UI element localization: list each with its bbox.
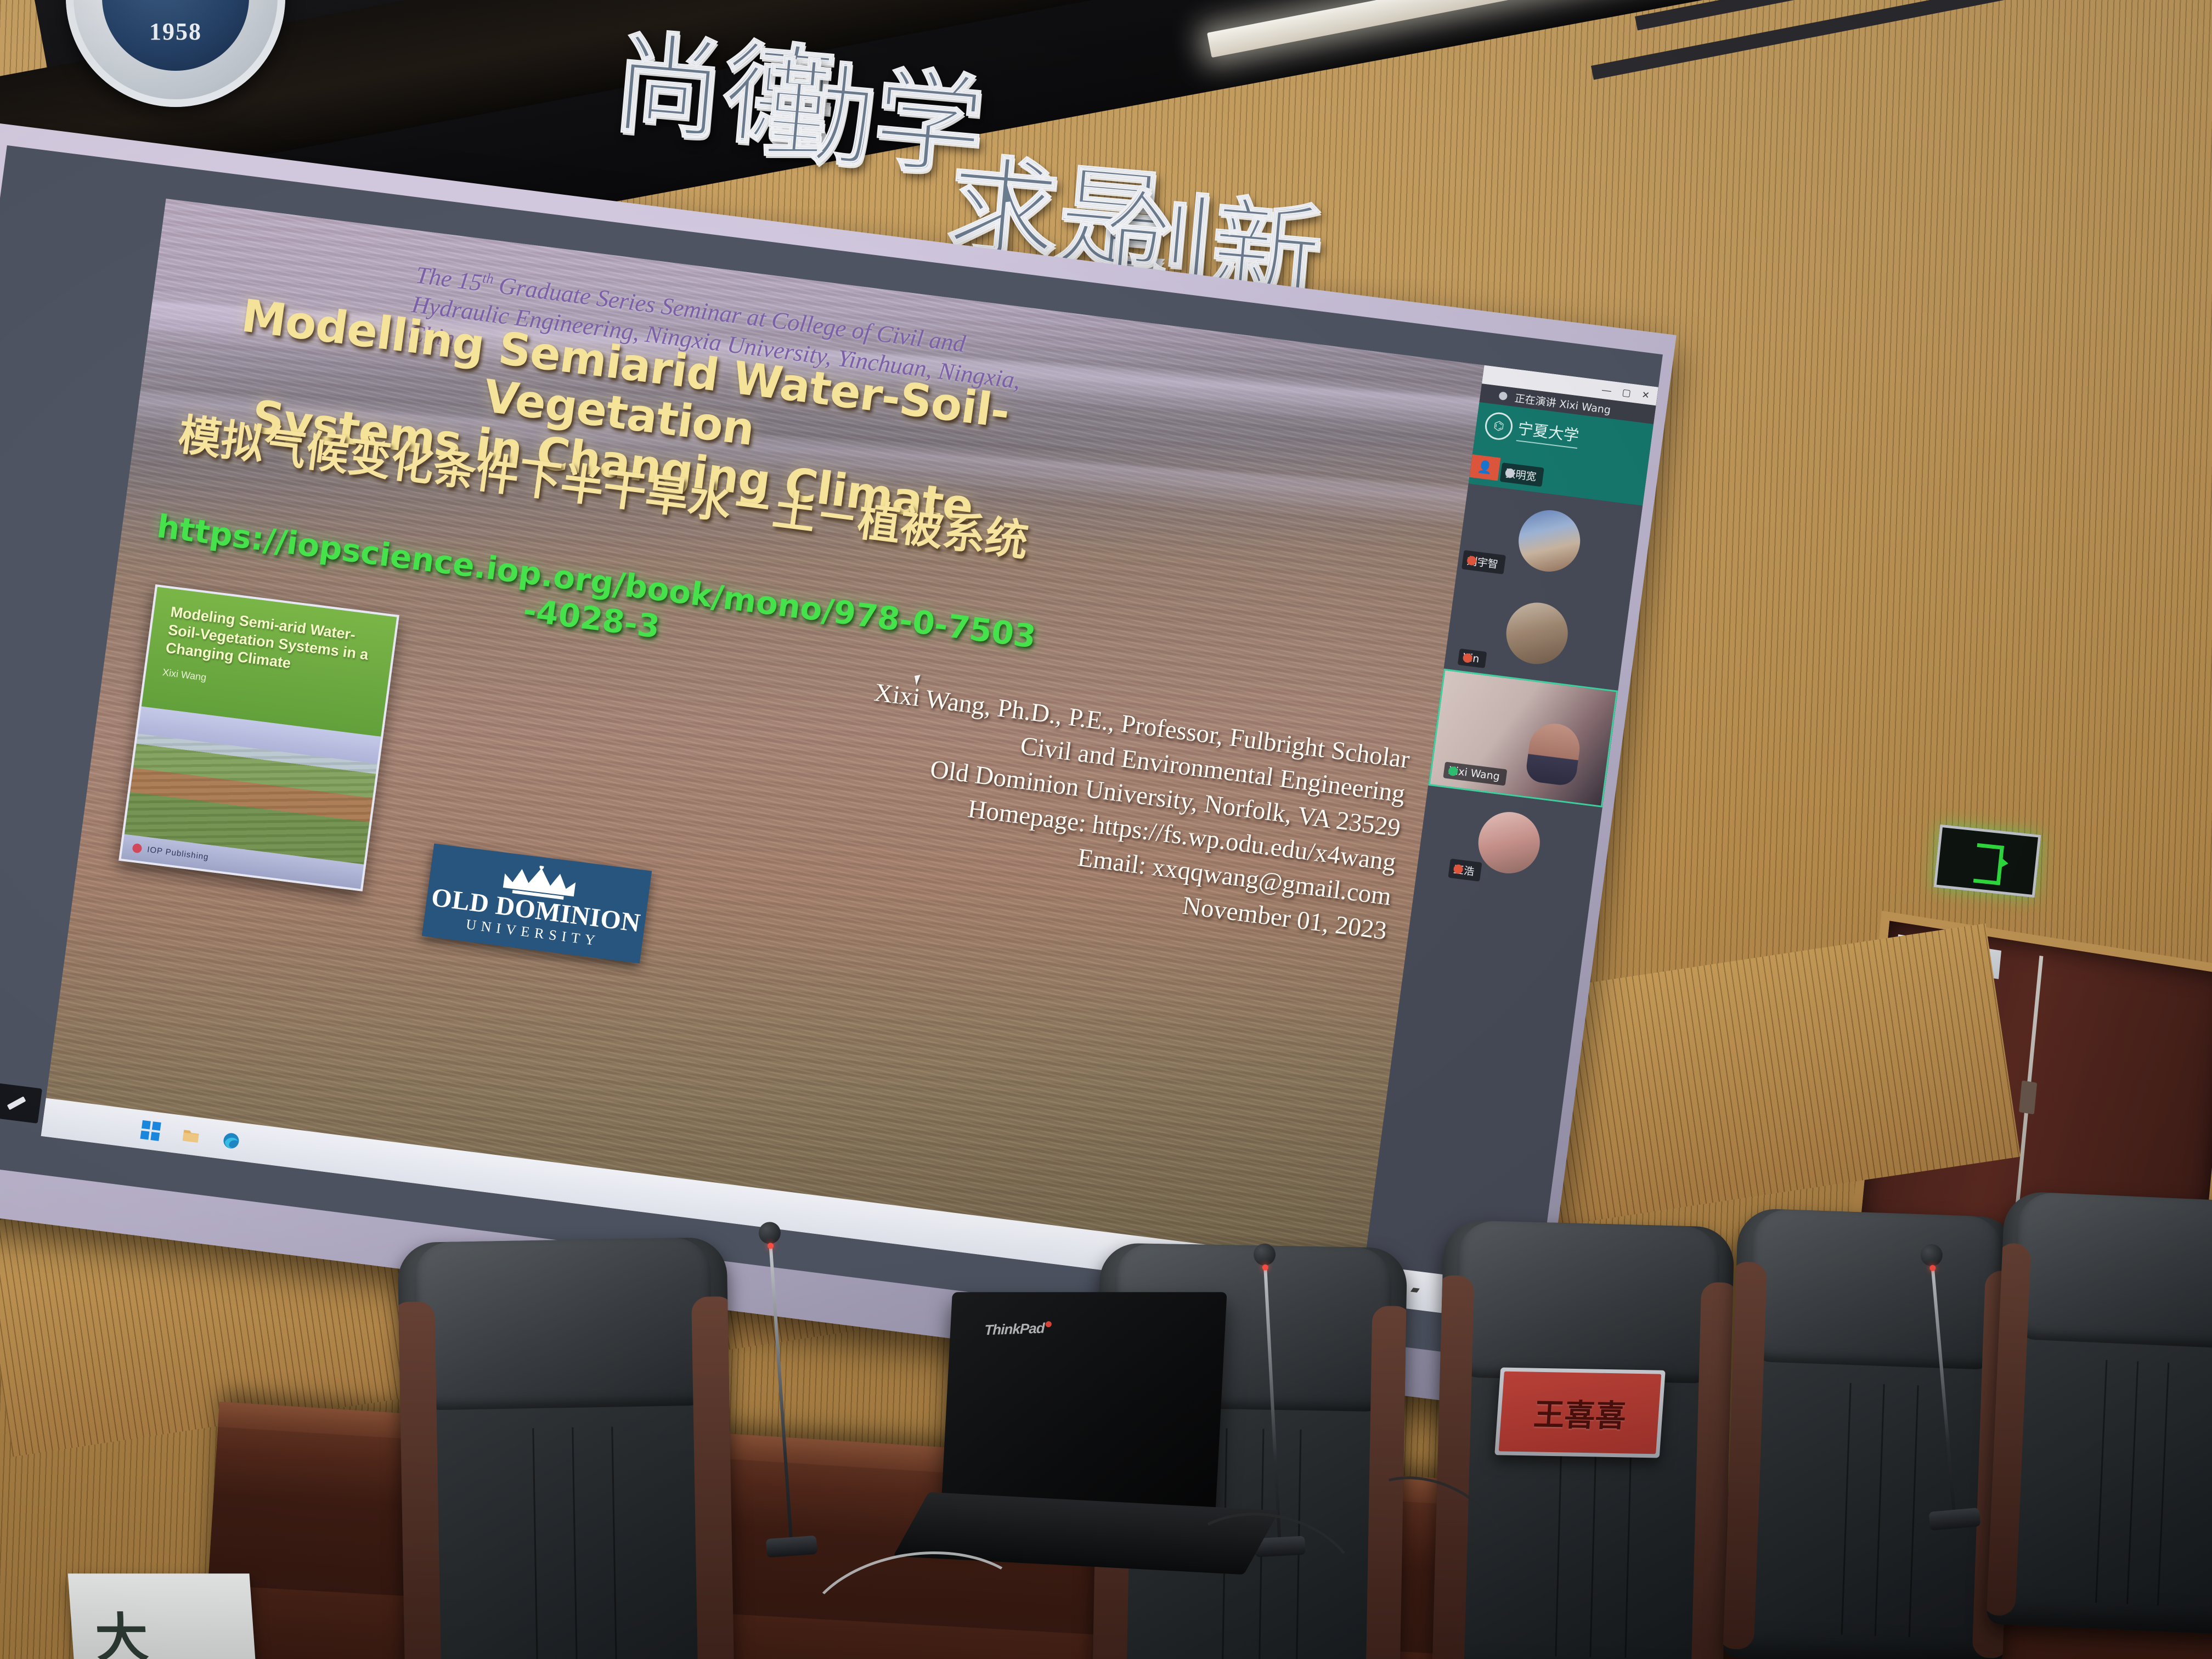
avatar <box>1503 599 1572 668</box>
lecture-hall-photo: 1958 NINGXIA UNIVERSITY 尚德 勤学 求是 创新 <box>0 0 2212 1659</box>
chair[interactable] <box>1986 1191 2212 1635</box>
podium-card-glyph: 大 <box>93 1595 151 1659</box>
speaker-video-feed <box>1525 721 1583 787</box>
ningxia-university-emblem: 1958 NINGXIA UNIVERSITY <box>66 0 285 107</box>
annotate-pencil-icon[interactable] <box>7 1096 26 1110</box>
thinkpad-laptop[interactable]: ThinkPad <box>940 1292 1227 1527</box>
presenter-icon <box>1498 391 1508 400</box>
windows-start-icon[interactable] <box>140 1120 161 1141</box>
raise-hand-badge[interactable]: 👤 <box>1469 454 1500 481</box>
chair[interactable] <box>1723 1208 2018 1659</box>
screen-share-banner[interactable]: g的屏幕共享 <box>0 1069 42 1124</box>
emblem-ring-text: NINGXIA UNIVERSITY <box>66 0 285 107</box>
exit-sign <box>1933 825 2041 898</box>
tencent-meeting-watermark: 腾讯会议 <box>866 263 929 291</box>
file-explorer-icon[interactable] <box>180 1125 201 1146</box>
organization-logo-icon: ⌬ <box>1483 411 1514 442</box>
door-hinge <box>2019 1080 2037 1114</box>
network-icon[interactable]: ▰ <box>1410 1283 1425 1298</box>
participant-nametag: Xixi Wang <box>1443 761 1507 786</box>
organization-name: 宁夏大学 <box>1516 416 1581 449</box>
iop-logo-icon <box>132 843 142 854</box>
participant-tile-active-speaker[interactable]: Xixi Wang <box>1428 669 1618 808</box>
name-placard: 王喜喜 <box>1494 1368 1666 1458</box>
participant-nametag: 王浩 <box>1448 859 1482 882</box>
exit-running-man-icon <box>1973 843 2001 879</box>
edge-icon[interactable] <box>221 1130 241 1151</box>
participant-nametag: 张明宽 <box>1500 462 1544 487</box>
avatar <box>1475 809 1544 877</box>
chair[interactable] <box>397 1237 735 1659</box>
screen-display-area: 腾讯会议 The 15th Graduate Series Seminar at… <box>0 145 1663 1363</box>
podium-card: 大 <box>68 1573 256 1659</box>
projection-screen: 腾讯会议 The 15th Graduate Series Seminar at… <box>0 123 1677 1412</box>
close-button[interactable]: ✕ <box>1641 390 1650 400</box>
book-cover-thumbnail: Modeling Semi-arid Water-Soil-Vegetation… <box>119 584 399 891</box>
shared-desktop: 腾讯会议 The 15th Graduate Series Seminar at… <box>41 199 1658 1325</box>
participant-nametag: Vin <box>1458 648 1487 668</box>
maximize-button[interactable]: ▢ <box>1622 387 1632 398</box>
placard-name: 王喜喜 <box>1532 1390 1628 1436</box>
book-publisher: IOP Publishing <box>146 845 209 862</box>
minimize-button[interactable]: — <box>1601 385 1612 395</box>
avatar <box>1515 506 1584 575</box>
thinkpad-logo: ThinkPad <box>984 1319 1052 1339</box>
participant-nametag: 刘宇智 <box>1462 550 1506 574</box>
